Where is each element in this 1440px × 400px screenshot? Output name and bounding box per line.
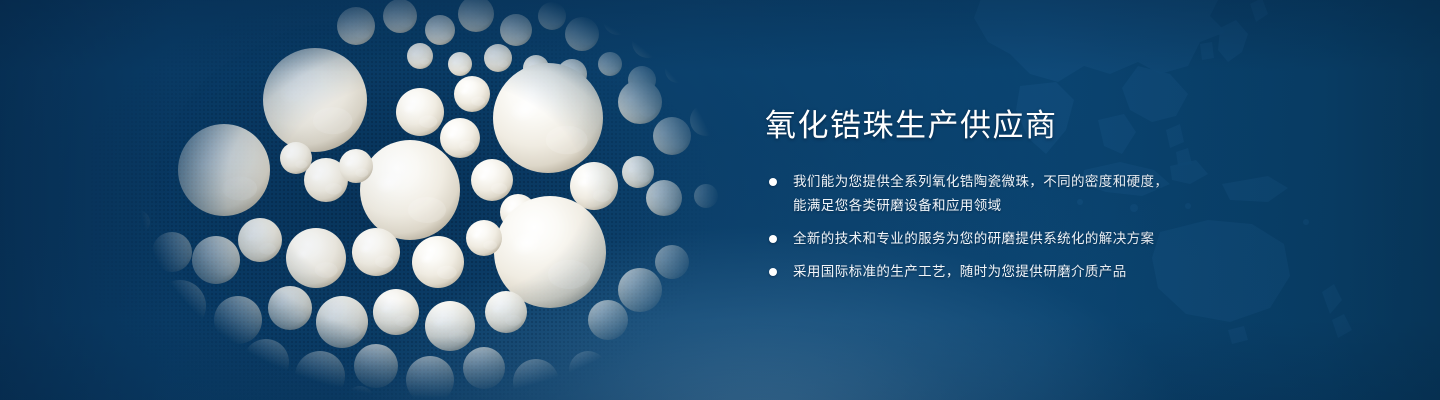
- hero-banner: 氧化锆珠生产供应商 我们能为您提供全系列氧化锆陶瓷微珠，不同的密度和硬度， 能满…: [0, 0, 1440, 400]
- banner-vignette: [0, 0, 1440, 400]
